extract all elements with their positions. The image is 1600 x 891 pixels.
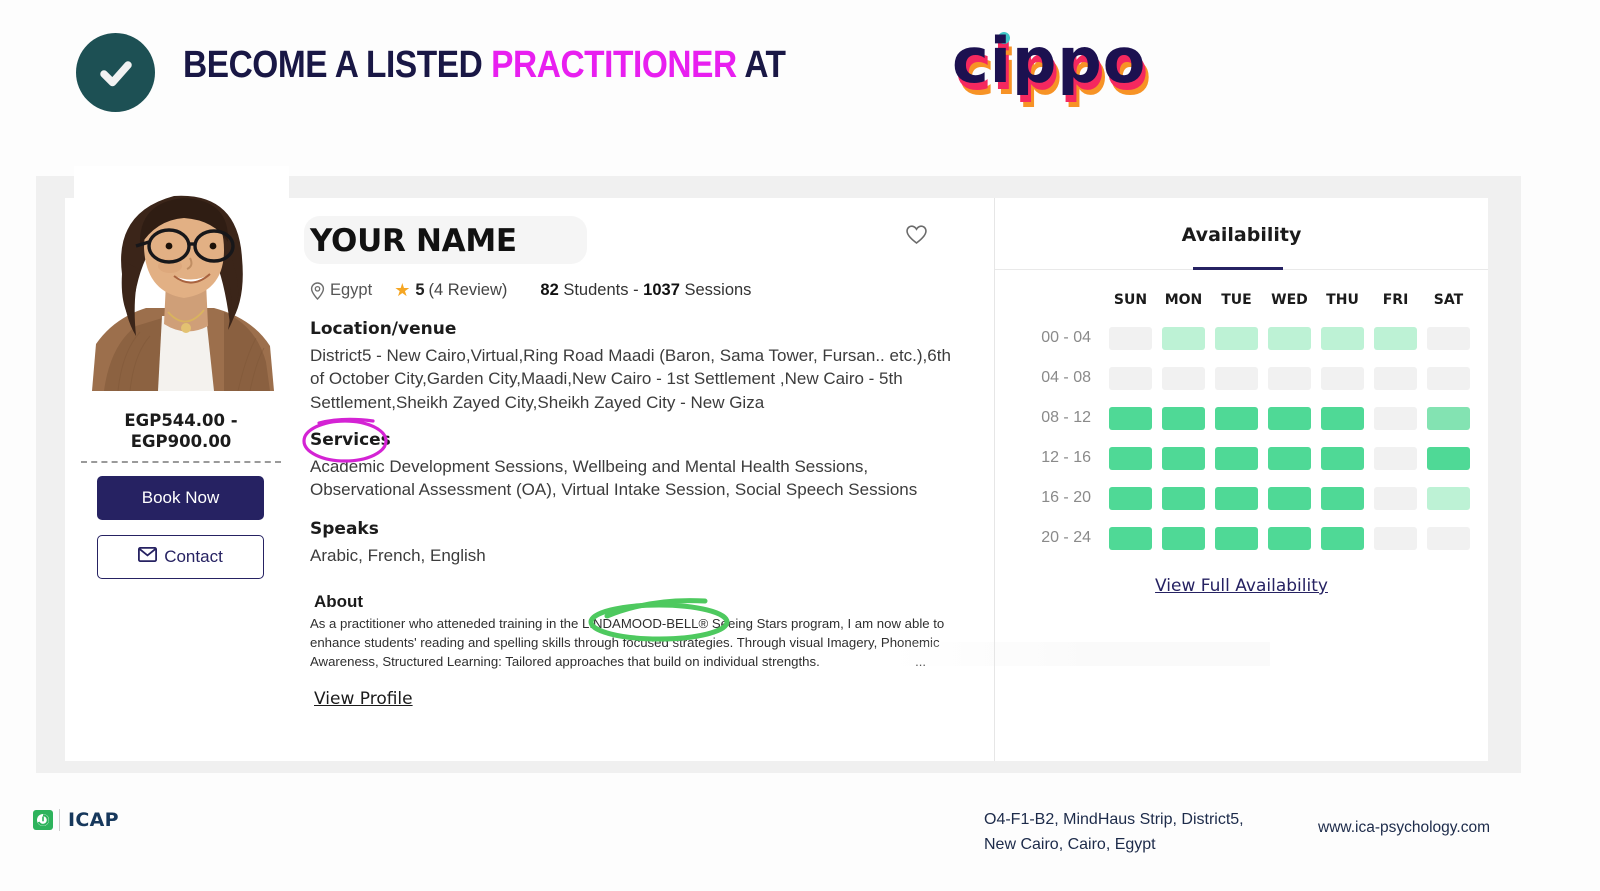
heart-icon[interactable]: [905, 224, 928, 250]
headline-part1: BECOME A LISTED: [183, 44, 482, 86]
availability-time-label: 16 - 20: [1013, 489, 1099, 507]
availability-cell-wed-20-24[interactable]: [1268, 527, 1311, 550]
availability-time-label: 08 - 12: [1013, 409, 1099, 427]
availability-slot-rows: 00 - 0404 - 0808 - 1212 - 1616 - 2020 - …: [1013, 318, 1470, 558]
location-section: Location/venue District5 - New Cairo,Vir…: [310, 319, 954, 414]
availability-cell-thu-12-16[interactable]: [1321, 447, 1364, 470]
availability-row: 04 - 08: [1013, 358, 1470, 398]
availability-cell-mon-00-04[interactable]: [1162, 327, 1205, 350]
page-footer: ICAP O4-F1-B2, MindHaus Strip, District5…: [0, 795, 1600, 891]
availability-tab-bar: Availability: [995, 198, 1488, 270]
availability-cell-tue-12-16[interactable]: [1215, 447, 1258, 470]
availability-cell-sat-16-20[interactable]: [1427, 487, 1470, 510]
availability-day-fri: FRI: [1374, 292, 1417, 308]
availability-cell-wed-12-16[interactable]: [1268, 447, 1311, 470]
availability-cell-mon-08-12[interactable]: [1162, 407, 1205, 430]
availability-time-label: 12 - 16: [1013, 449, 1099, 467]
profile-meta-row: Egypt ★ 5 (4 Review) 82 Students - 1037 …: [310, 280, 954, 301]
availability-day-mon: MON: [1162, 292, 1205, 308]
about-ellipsis: ...: [915, 654, 926, 669]
check-circle-icon: [76, 33, 155, 112]
availability-cell-sun-20-24[interactable]: [1109, 527, 1152, 550]
services-body: Academic Development Sessions, Wellbeing…: [310, 455, 954, 502]
availability-time-label: 04 - 08: [1013, 369, 1099, 387]
availability-cell-thu-00-04[interactable]: [1321, 327, 1364, 350]
location-heading: Location/venue: [310, 319, 954, 339]
availability-cell-thu-20-24[interactable]: [1321, 527, 1364, 550]
availability-day-sat: SAT: [1427, 292, 1470, 308]
availability-grid: SUNMONTUEWEDTHUFRISAT 00 - 0404 - 0808 -…: [995, 270, 1488, 558]
icap-mark-icon: [33, 810, 53, 830]
cippo-logo-text: cippo: [952, 24, 1146, 97]
availability-cell-wed-16-20[interactable]: [1268, 487, 1311, 510]
availability-cell-thu-08-12[interactable]: [1321, 407, 1364, 430]
icap-logo-divider: [59, 809, 60, 831]
availability-cell-tue-08-12[interactable]: [1215, 407, 1258, 430]
availability-panel: Availability SUNMONTUEWEDTHUFRISAT 00 - …: [994, 198, 1488, 761]
footer-website: www.ica-psychology.com: [1318, 819, 1490, 837]
availability-cell-fri-08-12[interactable]: [1374, 407, 1417, 430]
practitioner-name: YOUR NAME: [310, 218, 954, 264]
cippo-logo: cippo cippo cippo: [952, 30, 1146, 92]
students-count: 82: [540, 281, 558, 299]
availability-day-thu: THU: [1321, 292, 1364, 308]
envelope-icon: [138, 547, 157, 567]
availability-cell-sun-16-20[interactable]: [1109, 487, 1152, 510]
speaks-body: Arabic, French, English: [310, 544, 954, 567]
price-range: EGP544.00 - EGP900.00: [81, 410, 281, 453]
availability-day-header: SUNMONTUEWEDTHUFRISAT: [1013, 292, 1470, 308]
tab-active-underline: [1193, 267, 1283, 270]
contact-button[interactable]: Contact: [97, 535, 264, 579]
availability-cell-tue-16-20[interactable]: [1215, 487, 1258, 510]
page-title: BECOME A LISTED PRACTITIONER AT: [183, 44, 786, 87]
availability-cell-sun-08-12[interactable]: [1109, 407, 1152, 430]
availability-row: 08 - 12: [1013, 398, 1470, 438]
headline-part2: AT: [744, 44, 785, 86]
availability-time-label: 20 - 24: [1013, 529, 1099, 547]
price-divider: [81, 461, 281, 463]
book-now-button[interactable]: Book Now: [97, 476, 264, 520]
availability-cell-tue-20-24[interactable]: [1215, 527, 1258, 550]
about-heading: About: [314, 592, 954, 612]
availability-row: 20 - 24: [1013, 518, 1470, 558]
availability-cell-sat-12-16[interactable]: [1427, 447, 1470, 470]
sessions-label: Sessions: [684, 281, 751, 299]
profile-review-count: (4 Review): [429, 281, 508, 300]
availability-cell-sun-12-16[interactable]: [1109, 447, 1152, 470]
profile-country: Egypt: [330, 281, 372, 300]
availability-cell-mon-16-20[interactable]: [1162, 487, 1205, 510]
profile-stats: 82 Students - 1037 Sessions: [540, 281, 751, 300]
availability-day-wed: WED: [1268, 292, 1311, 308]
availability-cell-fri-16-20[interactable]: [1374, 487, 1417, 510]
footer-address-line2: New Cairo, Cairo, Egypt: [984, 833, 1244, 858]
availability-cell-fri-04-08[interactable]: [1374, 367, 1417, 390]
availability-row: 00 - 04: [1013, 318, 1470, 358]
availability-cell-wed-08-12[interactable]: [1268, 407, 1311, 430]
page-header: BECOME A LISTED PRACTITIONER AT cippo ci…: [0, 0, 1600, 150]
profile-rating: 5: [415, 281, 424, 300]
speaks-heading: Speaks: [310, 519, 954, 539]
students-label: Students: [563, 281, 628, 299]
sessions-count: 1037: [643, 281, 680, 299]
availability-cell-thu-16-20[interactable]: [1321, 487, 1364, 510]
availability-cell-tue-00-04[interactable]: [1215, 327, 1258, 350]
practitioner-profile-card: EGP544.00 - EGP900.00 Book Now Contact Y…: [65, 198, 1488, 761]
map-pin-icon: [310, 282, 325, 300]
availability-cell-wed-04-08[interactable]: [1268, 367, 1311, 390]
contact-button-label: Contact: [164, 547, 223, 567]
availability-cell-mon-12-16[interactable]: [1162, 447, 1205, 470]
star-icon: ★: [394, 280, 410, 301]
availability-cell-mon-04-08[interactable]: [1162, 367, 1205, 390]
availability-cell-sat-04-08[interactable]: [1427, 367, 1470, 390]
view-full-availability-link[interactable]: View Full Availability: [995, 576, 1488, 596]
availability-cell-sat-00-04[interactable]: [1427, 327, 1470, 350]
availability-cell-sun-00-04[interactable]: [1109, 327, 1152, 350]
availability-cell-sat-08-12[interactable]: [1427, 407, 1470, 430]
price-block: EGP544.00 - EGP900.00: [81, 410, 281, 463]
footer-address-line1: O4-F1-B2, MindHaus Strip, District5,: [984, 808, 1244, 833]
footer-address: O4-F1-B2, MindHaus Strip, District5, New…: [984, 808, 1244, 858]
availability-cell-fri-20-24[interactable]: [1374, 527, 1417, 550]
profile-main-column: YOUR NAME Egypt ★ 5 (4 Review) 82 Studen…: [298, 198, 994, 761]
availability-row: 12 - 16: [1013, 438, 1470, 478]
availability-cell-fri-12-16[interactable]: [1374, 447, 1417, 470]
availability-cell-thu-04-08[interactable]: [1321, 367, 1364, 390]
availability-cell-sat-20-24[interactable]: [1427, 527, 1470, 550]
profile-left-column: EGP544.00 - EGP900.00 Book Now Contact: [65, 198, 298, 761]
about-section: About As a practitioner who atteneded tr…: [310, 592, 954, 709]
availability-row: 16 - 20: [1013, 478, 1470, 518]
about-body: As a practitioner who atteneded training…: [310, 614, 954, 671]
location-body: District5 - New Cairo,Virtual,Ring Road …: [310, 344, 954, 414]
profile-name-row: YOUR NAME: [310, 218, 954, 268]
speaks-section: Speaks Arabic, French, English: [310, 519, 954, 567]
availability-cell-sun-04-08[interactable]: [1109, 367, 1152, 390]
availability-day-sun: SUN: [1109, 292, 1152, 308]
availability-time-label: 00 - 04: [1013, 329, 1099, 347]
availability-cell-tue-04-08[interactable]: [1215, 367, 1258, 390]
icap-logo: ICAP: [33, 809, 119, 831]
headline-highlight: PRACTITIONER: [491, 44, 737, 86]
stats-separator: -: [633, 281, 639, 299]
view-profile-link[interactable]: View Profile: [314, 689, 413, 709]
services-heading: Services: [310, 430, 391, 450]
tab-availability[interactable]: Availability: [1182, 224, 1302, 246]
availability-day-tue: TUE: [1215, 292, 1258, 308]
services-section: Services Academic Development Sessions, …: [310, 430, 954, 502]
availability-cell-fri-00-04[interactable]: [1374, 327, 1417, 350]
availability-cell-wed-00-04[interactable]: [1268, 327, 1311, 350]
icap-logo-text: ICAP: [68, 809, 119, 831]
availability-cell-mon-20-24[interactable]: [1162, 527, 1205, 550]
avatar: [74, 166, 289, 391]
